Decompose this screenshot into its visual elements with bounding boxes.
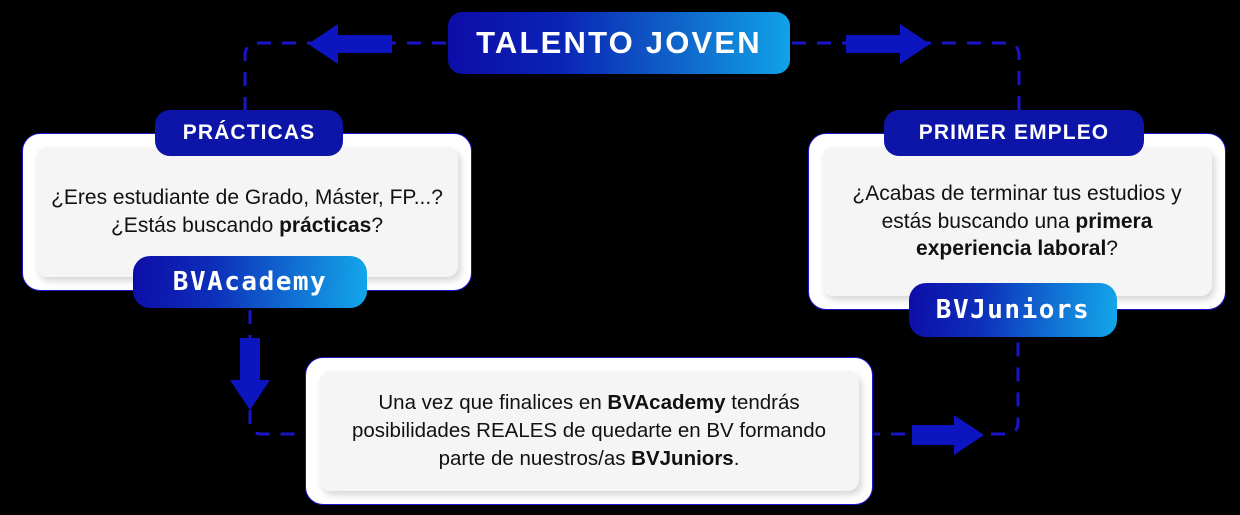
section-badge-primer-empleo[interactable]: PRIMER EMPLEO bbox=[884, 110, 1144, 156]
card-outcome-seg1: Una vez que finalices en bbox=[378, 391, 607, 414]
card-outcome-seg5: . bbox=[734, 447, 740, 470]
card-outcome-text: Una vez que finalices en BVAcademy tendr… bbox=[319, 389, 859, 474]
card-outcome-inner: Una vez que finalices en BVAcademy tendr… bbox=[319, 371, 859, 491]
arrow-left-from-title bbox=[308, 22, 392, 66]
card-outcome-seg4: BVJuniors bbox=[631, 447, 734, 470]
title-badge-talento-joven[interactable]: TALENTO JOVEN bbox=[448, 12, 790, 74]
diagram-canvas: TALENTO JOVEN ¿Eres estudiante de Grado,… bbox=[0, 0, 1240, 515]
card-practicas-text-bold: prácticas bbox=[279, 214, 371, 237]
card-outcome: Una vez que finalices en BVAcademy tendr… bbox=[305, 357, 873, 505]
card-practicas-text-lead: ¿Eres estudiante de Grado, Máster, FP...… bbox=[51, 186, 443, 237]
card-primer-empleo-text: ¿Acabas de terminar tus estudios y estás… bbox=[822, 180, 1212, 264]
card-outcome-seg2: BVAcademy bbox=[607, 391, 725, 414]
card-primer-empleo-text-tail: ? bbox=[1106, 237, 1118, 260]
card-practicas-text-tail: ? bbox=[371, 214, 383, 237]
card-practicas-text: ¿Eres estudiante de Grado, Máster, FP...… bbox=[36, 184, 458, 240]
arrow-down-to-outcome bbox=[227, 338, 273, 410]
brand-badge-bvjuniors[interactable]: BVJuniors bbox=[909, 283, 1117, 337]
arrow-right-to-juniors bbox=[912, 412, 984, 458]
section-badge-practicas[interactable]: PRÁCTICAS bbox=[155, 110, 343, 156]
arrow-right-from-title bbox=[846, 22, 930, 66]
card-primer-empleo-inner: ¿Acabas de terminar tus estudios y estás… bbox=[822, 147, 1212, 296]
brand-badge-bvacademy[interactable]: BVAcademy bbox=[133, 256, 367, 308]
